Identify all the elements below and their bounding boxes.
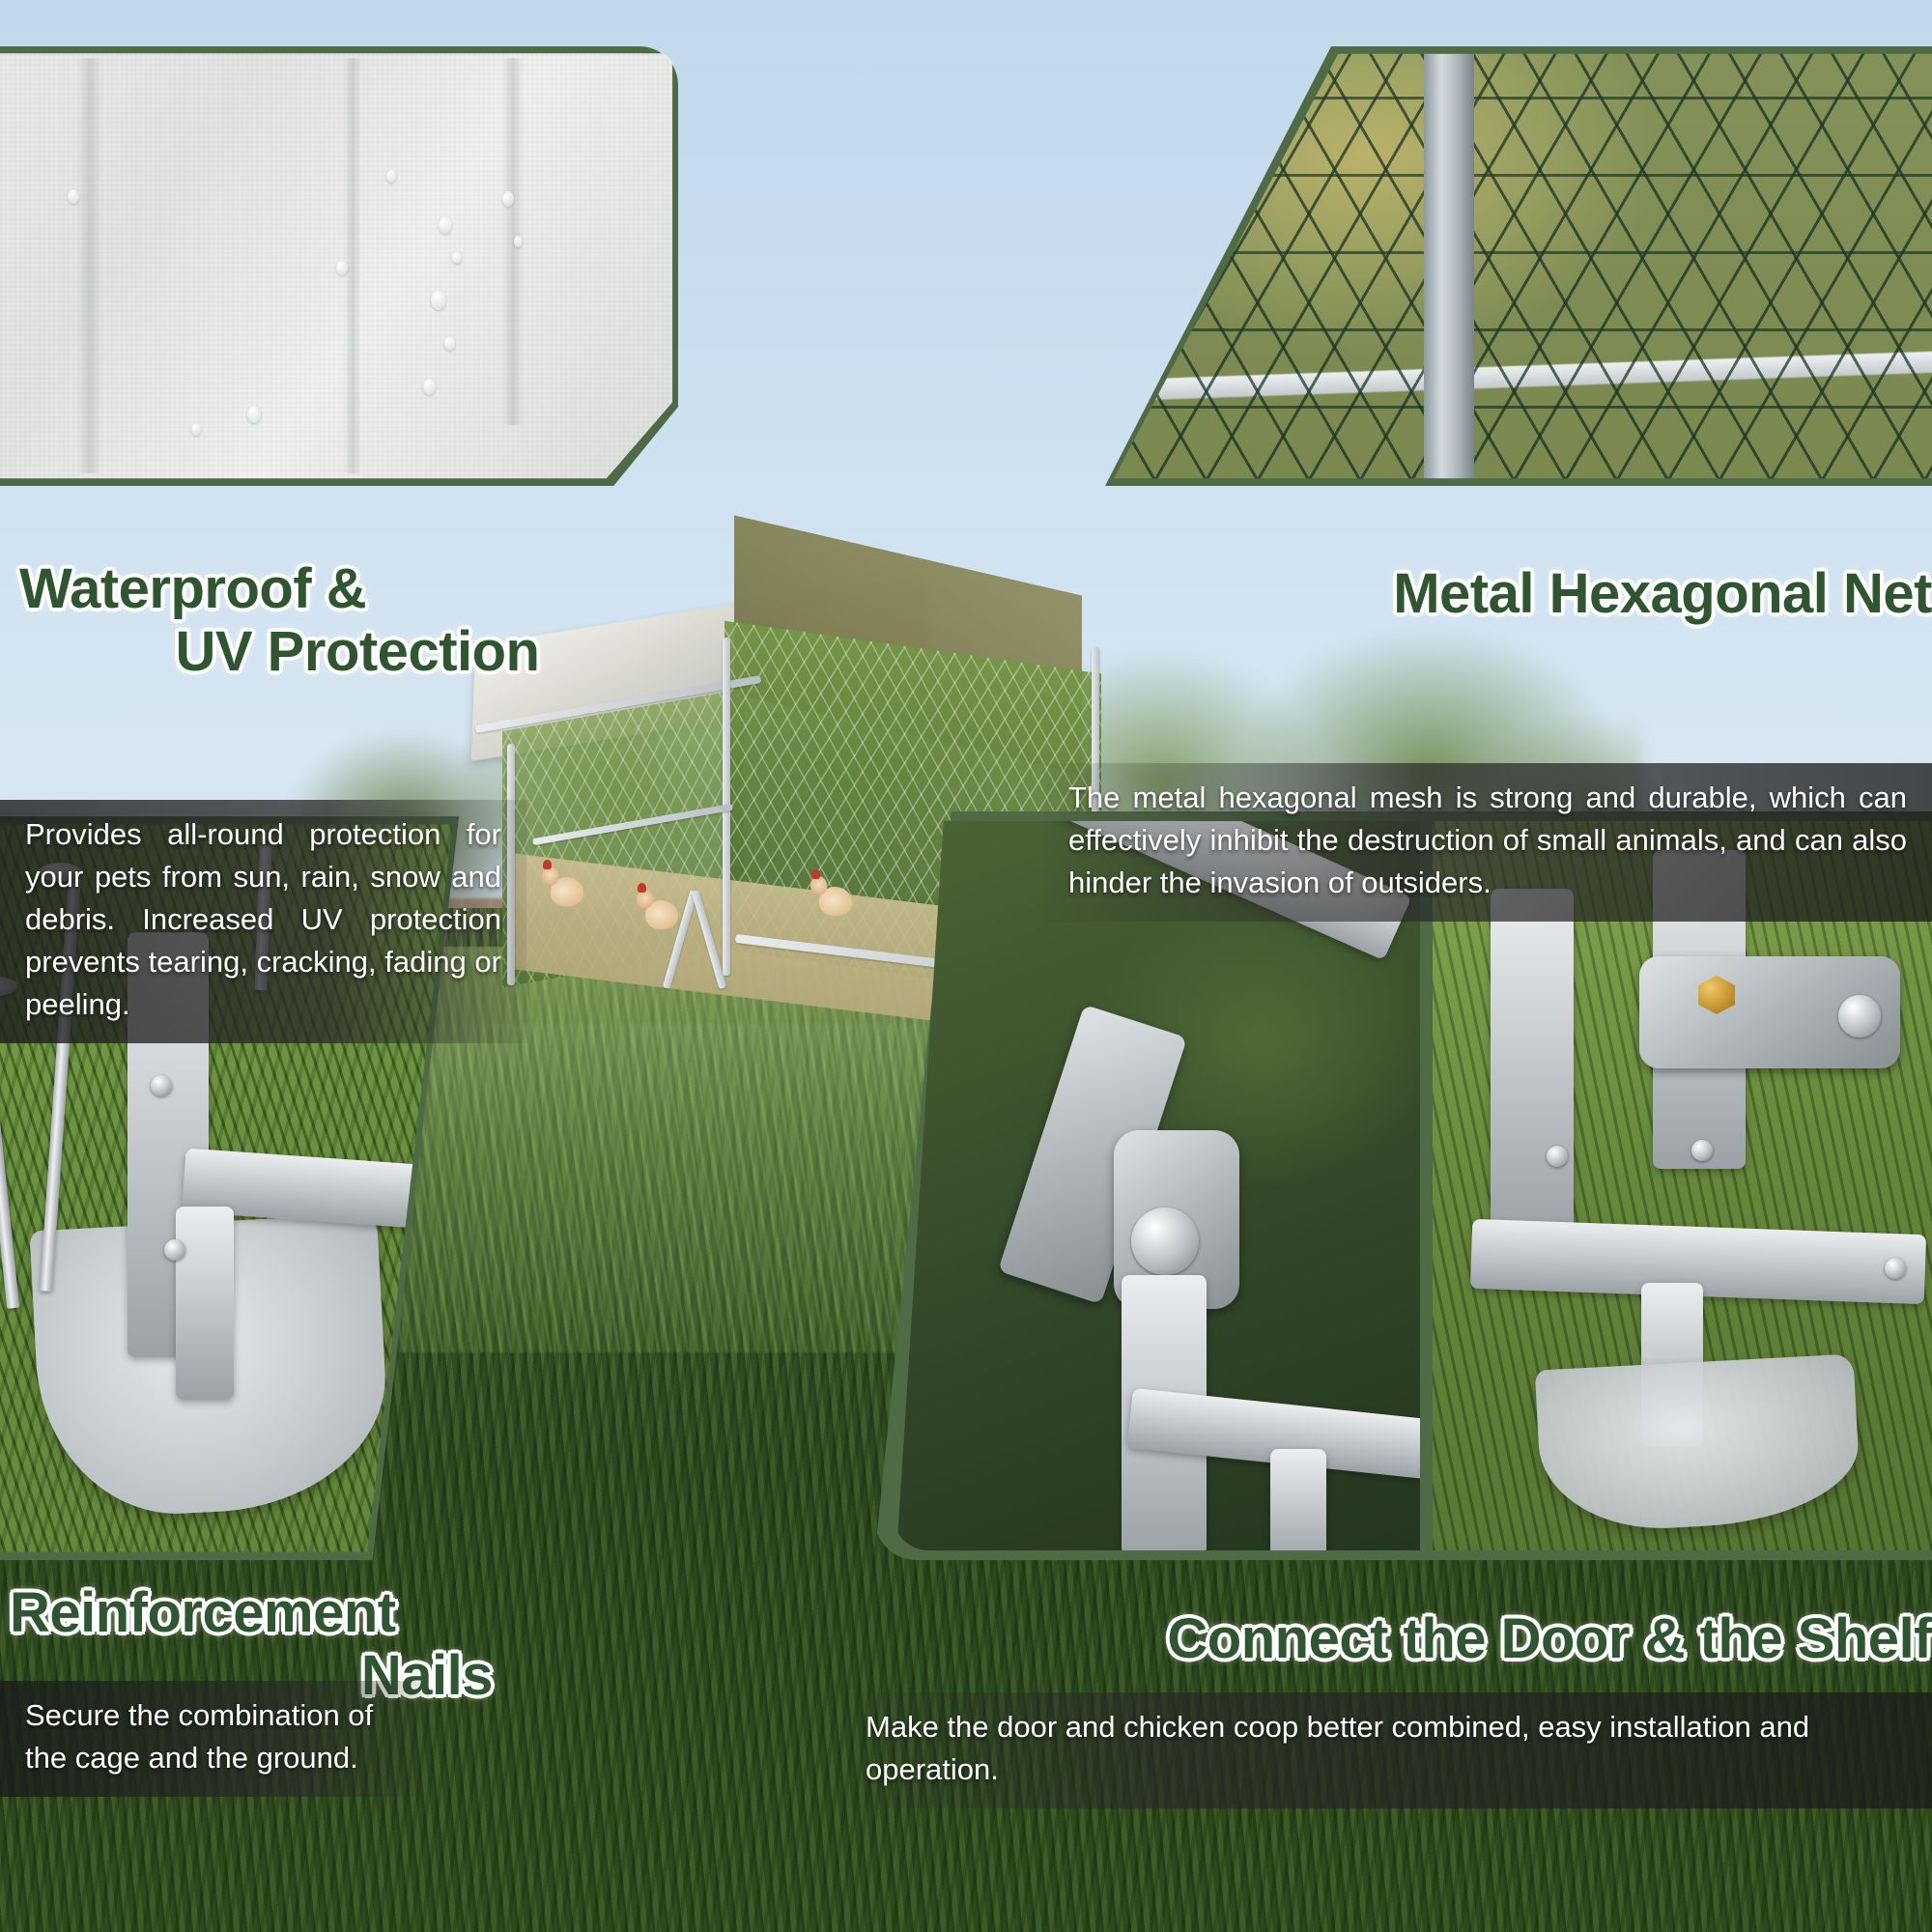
water-droplet <box>247 406 261 423</box>
photo-panel-connectors <box>874 811 1932 1560</box>
water-droplet <box>336 261 348 275</box>
water-droplet <box>386 170 396 183</box>
feature-body-connect-door-shelf: Make the door and chicken coop better co… <box>840 1692 1932 1808</box>
photo-panel-hex-mesh <box>1105 46 1932 486</box>
rivet <box>1547 1146 1568 1167</box>
rivet <box>151 1075 172 1096</box>
water-droplet <box>452 251 462 264</box>
rivet <box>1838 995 1881 1037</box>
water-droplet <box>431 290 446 310</box>
pipe-stub <box>1270 1449 1326 1550</box>
rivet <box>1691 1140 1713 1161</box>
pipe-stub <box>176 1207 234 1400</box>
tee-connector-photo <box>1433 821 1932 1550</box>
feature-title-connect-line1: Connect the Door & the Shelf <box>1167 1607 1932 1670</box>
hen-illustration <box>551 877 583 906</box>
water-droplet <box>439 216 452 234</box>
water-droplet <box>502 191 514 207</box>
vertical-pipe <box>1491 889 1574 1236</box>
infographic-canvas: Waterproof & UV Protection Metal Hexagon… <box>0 0 1932 1932</box>
rivet <box>427 1201 448 1222</box>
hinge-bolt <box>1131 1207 1199 1275</box>
rivet <box>164 1239 185 1261</box>
feature-body-hex-mesh: The metal hexagonal mesh is strong and d… <box>1043 763 1932 922</box>
feature-body-reinforcement-nails: Secure the combination of the cage and t… <box>0 1681 430 1797</box>
feature-title-hex-mesh-line1: Metal Hexagonal Net <box>1393 562 1932 625</box>
photo-panel-waterproof <box>0 46 678 486</box>
rivet <box>1885 1258 1906 1279</box>
hinge-connector-photo <box>894 821 1420 1550</box>
hex-mesh-photo <box>1105 46 1932 486</box>
hen-illustration <box>819 887 852 916</box>
feature-title-waterproof-line1: Waterproof & <box>19 557 366 620</box>
feature-title-nails-line1: Reinforcement <box>10 1581 396 1644</box>
tarp-photo <box>0 46 678 486</box>
feature-title-hex-mesh: Metal Hexagonal Net <box>1024 500 1932 626</box>
water-droplet <box>514 236 523 247</box>
tarp-fold <box>77 58 102 473</box>
feature-title-connect-door-shelf: Connect the Door & the Shelf <box>850 1546 1932 1671</box>
hen-illustration <box>645 900 678 929</box>
water-droplet <box>191 423 201 436</box>
hexagonal-wire-net <box>1105 46 1932 486</box>
feature-title-waterproof-line2: UV Protection <box>19 621 696 684</box>
feature-body-waterproof: Provides all-round protection for your p… <box>0 800 526 1043</box>
water-droplet <box>68 189 79 204</box>
galvanized-post <box>1424 46 1474 486</box>
water-droplet <box>423 379 436 395</box>
water-droplet <box>444 336 455 351</box>
feature-title-waterproof: Waterproof & UV Protection <box>19 496 696 747</box>
base-plate <box>1535 1353 1861 1534</box>
